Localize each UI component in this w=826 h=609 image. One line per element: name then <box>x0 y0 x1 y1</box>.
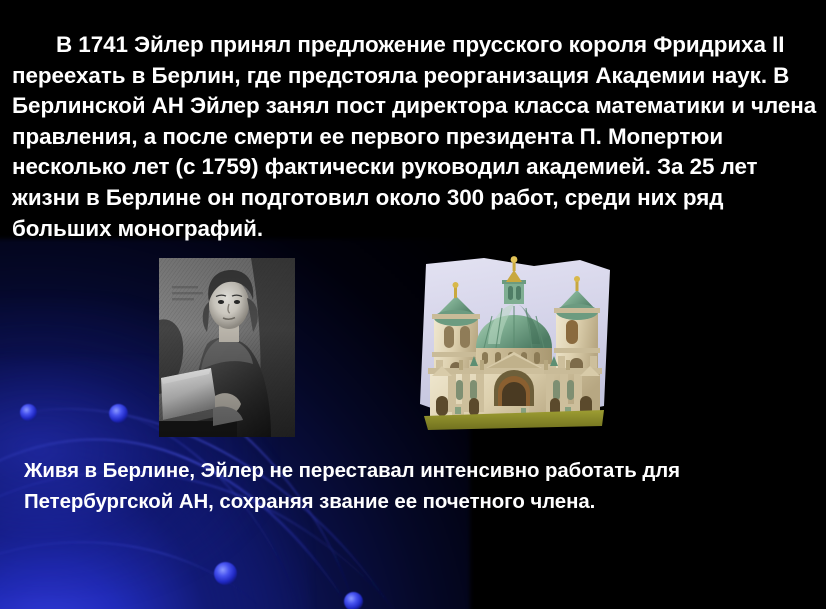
decor-dot <box>109 404 128 423</box>
presentation-slide: В 1741 Эйлер принял предложение прусског… <box>0 0 826 609</box>
berlin-cathedral-art <box>414 256 614 438</box>
portrait-image <box>159 258 295 437</box>
decor-dot <box>20 404 37 421</box>
decor-dot <box>344 592 363 609</box>
caption-paragraph: Живя в Берлине, Эйлер не переставал инте… <box>24 456 814 518</box>
body-paragraph: В 1741 Эйлер принял предложение прусског… <box>12 30 824 244</box>
decor-dot <box>214 562 237 585</box>
portrait-engraving-art <box>159 258 295 437</box>
cathedral-image <box>414 256 614 438</box>
